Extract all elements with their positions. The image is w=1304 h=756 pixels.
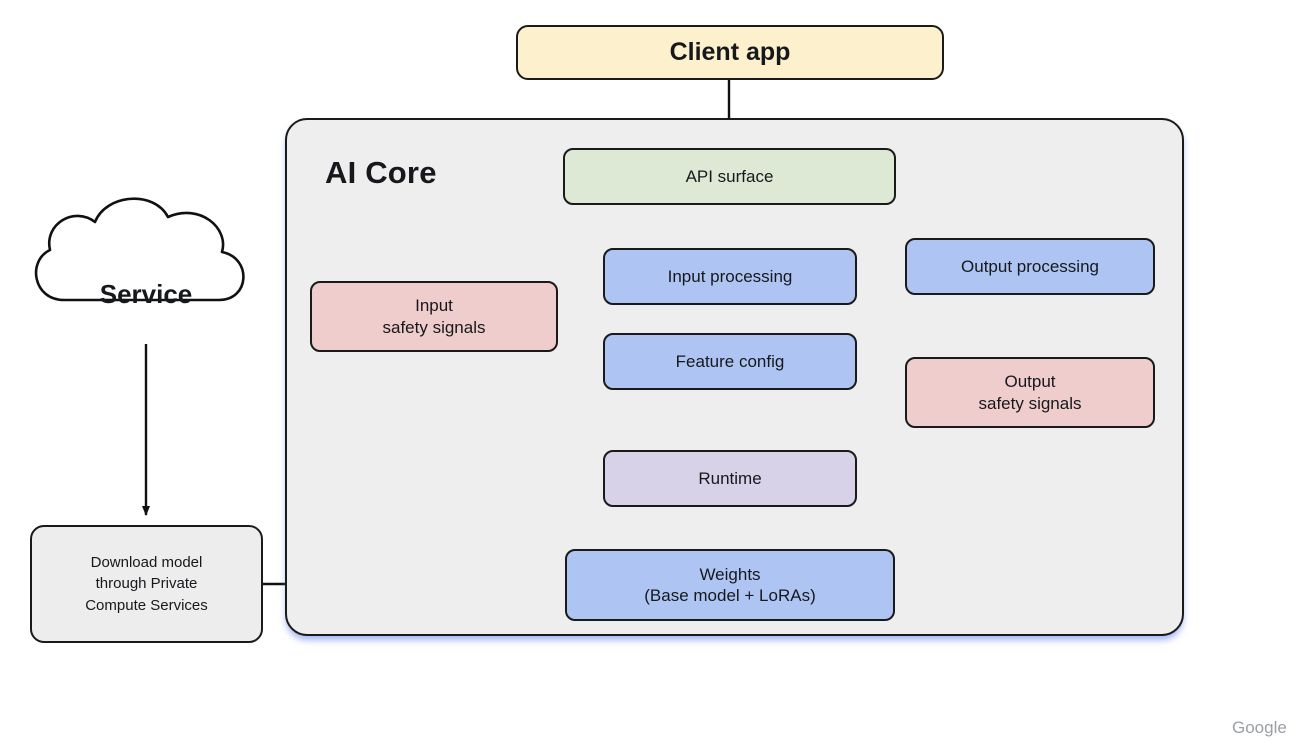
node-weights[interactable]: Weights (Base model + LoRAs) [565, 549, 895, 621]
ai-core-title: AI Core [325, 155, 437, 191]
service-cloud-label: Service [56, 279, 236, 310]
node-client-app[interactable]: Client app [516, 25, 944, 80]
node-api-surface[interactable]: API surface [563, 148, 896, 205]
node-runtime[interactable]: Runtime [603, 450, 857, 507]
node-download-model[interactable]: Download model through Private Compute S… [30, 525, 263, 643]
node-output-safety-signals[interactable]: Output safety signals [905, 357, 1155, 428]
google-watermark: Google [1232, 718, 1287, 738]
node-output-processing[interactable]: Output processing [905, 238, 1155, 295]
diagram-canvas: AI Core Service Client app API surface I… [0, 0, 1304, 756]
node-input-processing[interactable]: Input processing [603, 248, 857, 305]
node-feature-config[interactable]: Feature config [603, 333, 857, 390]
node-input-safety-signals[interactable]: Input safety signals [310, 281, 558, 352]
